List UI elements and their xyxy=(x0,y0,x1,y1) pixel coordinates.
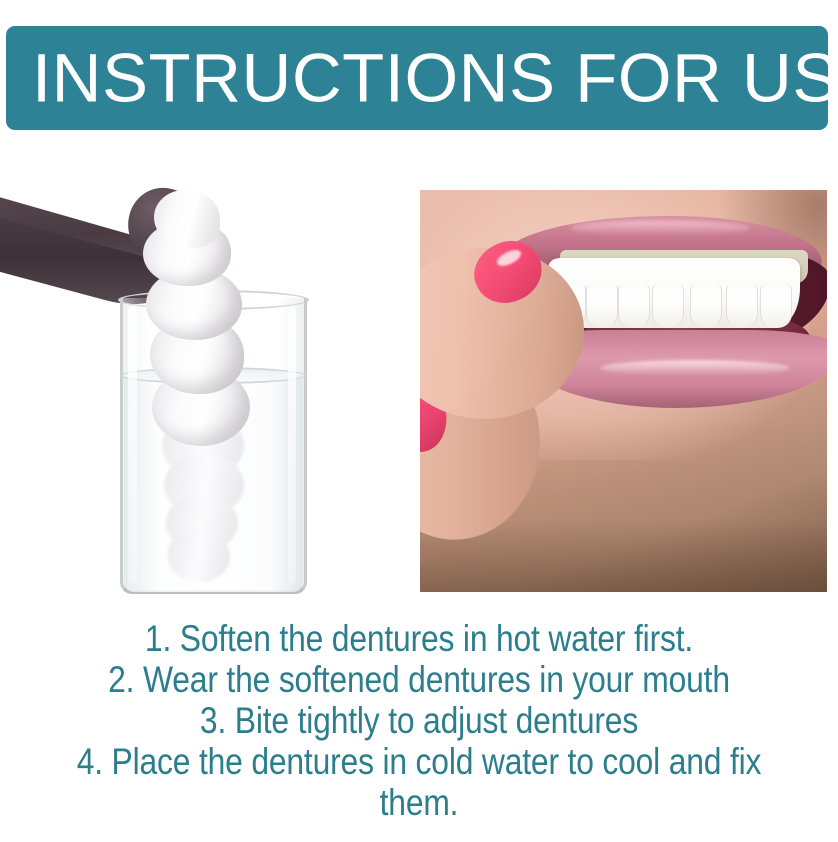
instruction-line-4-cont: them. xyxy=(59,782,780,823)
denture-veneer xyxy=(548,258,800,328)
header-banner: INSTRUCTIONS FOR USE xyxy=(6,26,828,130)
glass-highlight xyxy=(288,306,296,584)
veneer-tooth xyxy=(760,284,792,328)
veneer-tooth xyxy=(586,284,618,328)
veneer-tooth xyxy=(652,284,684,328)
instruction-photo-row xyxy=(0,186,838,594)
upper-lip-highlight xyxy=(570,220,750,236)
instructions-list: 1. Soften the dentures in hot water firs… xyxy=(0,618,838,823)
denture-segment xyxy=(154,190,220,248)
instruction-line-4: 4. Place the dentures in cold water to c… xyxy=(59,741,780,782)
veneer-tooth xyxy=(726,284,758,328)
submerged-denture-part xyxy=(168,530,230,582)
glass-highlight xyxy=(128,306,137,584)
veneer-tooth xyxy=(618,284,650,328)
photo-denture-fitting-mouth xyxy=(420,190,827,592)
lower-lip-highlight xyxy=(600,360,790,376)
veneer-tooth xyxy=(690,284,722,328)
photo-denture-in-water-glass xyxy=(0,186,410,594)
instruction-line-2: 2. Wear the softened dentures in your mo… xyxy=(59,659,780,700)
page-title: INSTRUCTIONS FOR USE xyxy=(32,44,838,113)
instruction-line-3: 3. Bite tightly to adjust dentures xyxy=(59,700,780,741)
instruction-line-1: 1. Soften the dentures in hot water firs… xyxy=(59,618,780,659)
